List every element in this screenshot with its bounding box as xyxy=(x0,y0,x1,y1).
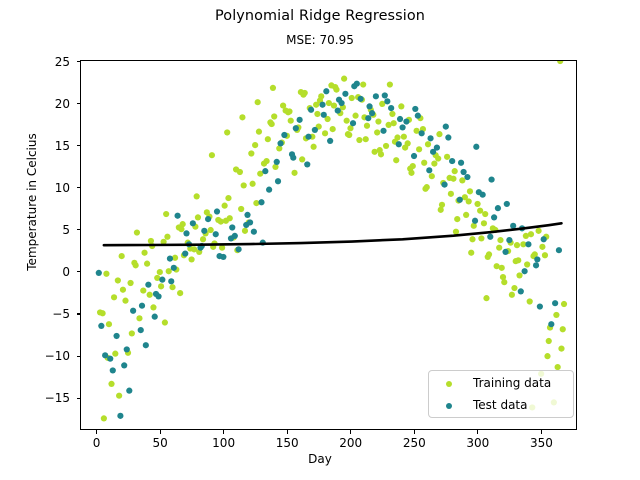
x-tick-label: 0 xyxy=(67,437,127,449)
y-tick-mark xyxy=(77,398,81,399)
legend-item-training: Training data xyxy=(429,372,575,396)
x-tick-label: 150 xyxy=(257,437,317,449)
y-tick-label: 10 xyxy=(10,182,70,194)
x-tick-mark xyxy=(223,430,224,434)
y-tick-mark xyxy=(77,356,81,357)
page-title: Polynomial Ridge Regression xyxy=(0,8,640,24)
y-tick-label: 25 xyxy=(10,56,70,68)
y-tick-label: 20 xyxy=(10,98,70,110)
legend-swatch-training xyxy=(446,381,452,387)
x-tick-mark xyxy=(350,430,351,434)
y-tick-label: −15 xyxy=(10,392,70,404)
x-tick-label: 100 xyxy=(194,437,254,449)
legend-label-training: Training data xyxy=(473,376,551,390)
x-tick-mark xyxy=(160,430,161,434)
legend-item-test: Test data xyxy=(429,394,575,418)
legend-label-test: Test data xyxy=(473,398,527,412)
y-tick-mark xyxy=(77,145,81,146)
y-axis-label: Temperature in Celcius xyxy=(25,42,39,362)
x-tick-mark xyxy=(414,430,415,434)
y-tick-label: 0 xyxy=(10,266,70,278)
matplotlib-figure: Polynomial Ridge Regression MSE: 70.95 −… xyxy=(0,0,640,480)
x-tick-label: 350 xyxy=(511,437,571,449)
y-tick-mark xyxy=(77,103,81,104)
legend-swatch-test xyxy=(446,403,452,409)
y-tick-mark xyxy=(77,313,81,314)
x-tick-label: 200 xyxy=(321,437,381,449)
y-tick-label: −10 xyxy=(10,350,70,362)
legend: Training data Test data xyxy=(428,370,574,418)
y-tick-mark xyxy=(77,229,81,230)
series-test-data-points xyxy=(96,81,562,419)
y-tick-mark xyxy=(77,61,81,62)
x-tick-mark xyxy=(477,430,478,434)
y-tick-mark xyxy=(77,271,81,272)
x-axis-label: Day xyxy=(0,452,640,466)
x-tick-mark xyxy=(287,430,288,434)
y-tick-label: −5 xyxy=(10,308,70,320)
chart-subtitle-mse: MSE: 70.95 xyxy=(0,33,640,47)
y-tick-mark xyxy=(77,187,81,188)
x-tick-mark xyxy=(541,430,542,434)
x-tick-label: 250 xyxy=(384,437,444,449)
x-tick-mark xyxy=(96,430,97,434)
x-tick-label: 300 xyxy=(448,437,508,449)
x-tick-label: 50 xyxy=(130,437,190,449)
y-tick-label: 15 xyxy=(10,140,70,152)
y-tick-label: 5 xyxy=(10,224,70,236)
